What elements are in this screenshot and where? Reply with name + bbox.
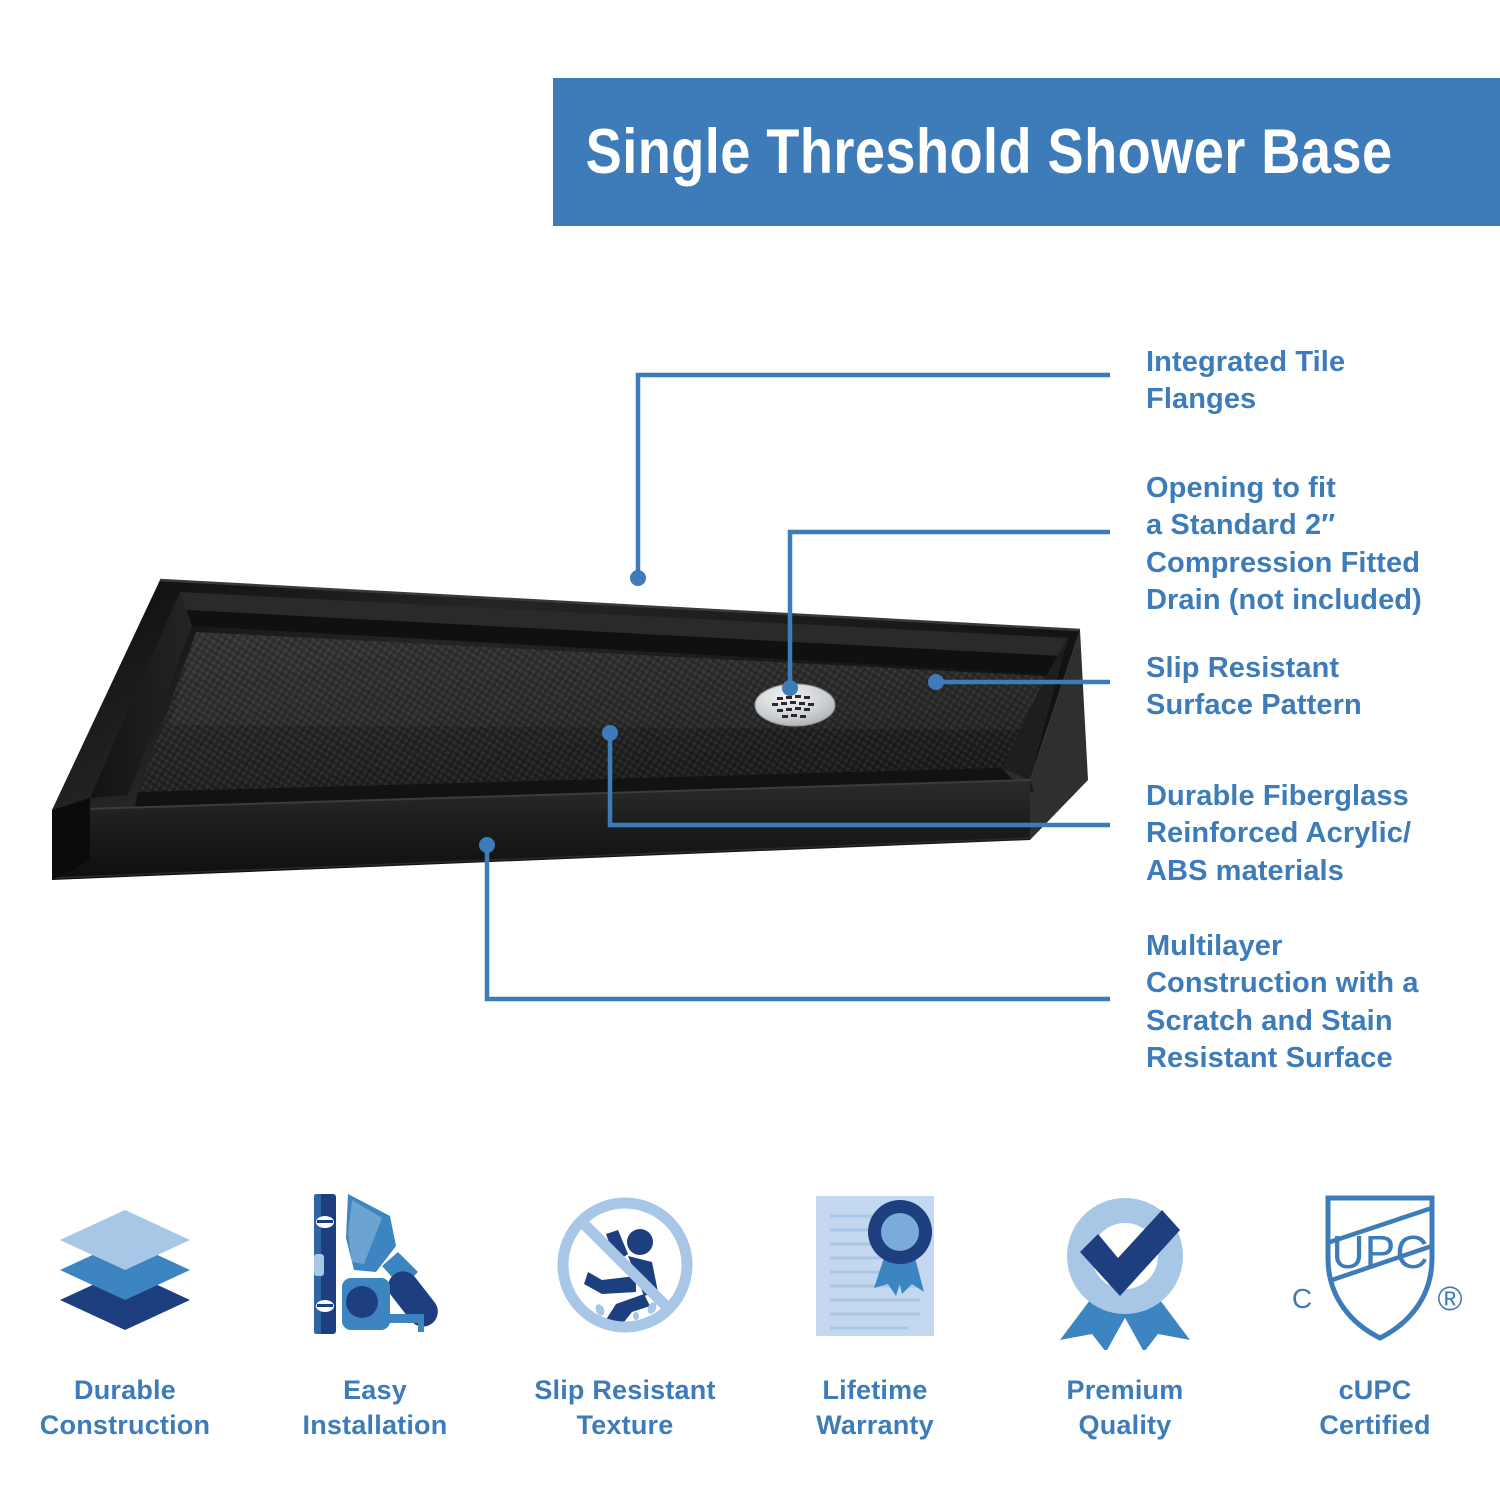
callout-line: Flanges	[1146, 381, 1446, 418]
feature-premium-quality: Premium Quality	[1000, 1175, 1250, 1443]
trowel-level-icon	[290, 1175, 460, 1355]
callout-label-tile-flanges: Integrated Tile Flanges	[1146, 344, 1446, 419]
callout-line: Surface Pattern	[1146, 687, 1446, 724]
cupc-shield-text: UPC	[1331, 1226, 1428, 1278]
no-slip-icon	[540, 1175, 710, 1355]
feature-cupc-certified: UPC C ® cUPC Certified	[1250, 1175, 1500, 1443]
callout-label-slip-surface: Slip Resistant Surface Pattern	[1146, 650, 1446, 725]
feature-label: Durable Construction	[40, 1373, 210, 1443]
product-image	[20, 540, 1130, 920]
feature-label: Premium Quality	[1067, 1373, 1184, 1443]
feature-easy-installation: Easy Installation	[250, 1175, 500, 1443]
feature-label-line: Durable	[40, 1373, 210, 1408]
callout-label-materials: Durable Fiberglass Reinforced Acrylic/ A…	[1146, 778, 1446, 890]
callout-label-multilayer: Multilayer Construction with a Scratch a…	[1146, 928, 1446, 1078]
check-ribbon-icon	[1040, 1175, 1210, 1355]
callout-line: Durable Fiberglass	[1146, 778, 1446, 815]
feature-label: Slip Resistant Texture	[534, 1373, 715, 1443]
feature-label-line: Construction	[40, 1408, 210, 1443]
feature-durable-construction: Durable Construction	[0, 1175, 250, 1443]
drain-cover	[755, 684, 835, 726]
feature-label-line: Installation	[303, 1408, 448, 1443]
callout-line: a Standard 2″	[1146, 507, 1446, 544]
callout-line: Reinforced Acrylic/	[1146, 815, 1446, 852]
callout-label-drain: Opening to fit a Standard 2″ Compression…	[1146, 470, 1446, 620]
cupc-left-mark: C	[1292, 1283, 1312, 1314]
callout-line: ABS materials	[1146, 853, 1446, 890]
feature-label: cUPC Certified	[1319, 1373, 1430, 1443]
callout-line: Opening to fit	[1146, 470, 1446, 507]
feature-label-line: Premium	[1067, 1373, 1184, 1408]
title-banner: Single Threshold Shower Base	[553, 78, 1500, 226]
layers-icon	[40, 1175, 210, 1355]
feature-label-line: Texture	[534, 1408, 715, 1443]
feature-label: Easy Installation	[303, 1373, 448, 1443]
callout-line: Multilayer	[1146, 928, 1446, 965]
feature-label-line: Warranty	[816, 1408, 934, 1443]
infographic-page: Single Threshold Shower Base	[0, 0, 1500, 1500]
page-title: Single Threshold Shower Base	[553, 116, 1393, 188]
callout-line: Compression Fitted	[1146, 545, 1446, 582]
feature-row: Durable Construction	[0, 1175, 1500, 1465]
feature-label-line: Slip Resistant	[534, 1373, 715, 1408]
feature-lifetime-warranty: Lifetime Warranty	[750, 1175, 1000, 1443]
feature-label-line: Quality	[1067, 1408, 1184, 1443]
cupc-registered-mark: ®	[1437, 1280, 1462, 1318]
callout-line: Integrated Tile	[1146, 344, 1446, 381]
callout-line: Slip Resistant	[1146, 650, 1446, 687]
cupc-shield-icon: UPC C ®	[1280, 1175, 1470, 1355]
feature-label-line: Certified	[1319, 1408, 1430, 1443]
feature-label-line: Easy	[303, 1373, 448, 1408]
callout-line: Scratch and Stain	[1146, 1003, 1446, 1040]
callout-line: Construction with a	[1146, 965, 1446, 1002]
feature-label-line: cUPC	[1319, 1373, 1430, 1408]
feature-label: Lifetime Warranty	[816, 1373, 934, 1443]
callout-line: Drain (not included)	[1146, 582, 1446, 619]
feature-label-line: Lifetime	[816, 1373, 934, 1408]
shower-base-illustration	[20, 540, 1130, 920]
certificate-icon	[790, 1175, 960, 1355]
feature-slip-resistant-texture: Slip Resistant Texture	[500, 1175, 750, 1443]
callout-line: Resistant Surface	[1146, 1040, 1446, 1077]
